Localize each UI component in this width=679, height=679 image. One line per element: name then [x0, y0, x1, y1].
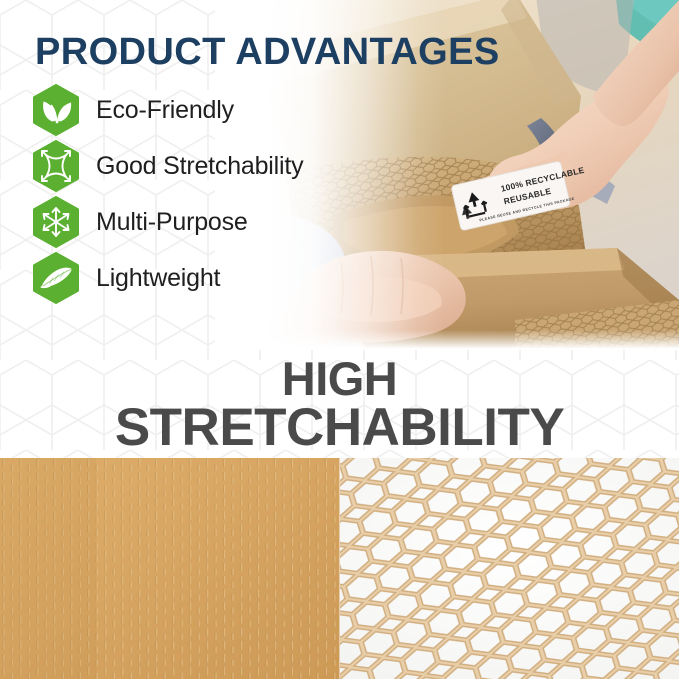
advantage-label: Lightweight [96, 264, 220, 293]
stretch-icon [31, 140, 81, 192]
section-title-line2: STRETCHABILITY [0, 402, 679, 454]
advantage-label: Good Stretchability [96, 152, 303, 181]
stretched-honeycomb-panel [340, 458, 679, 679]
section-title: HIGH STRETCHABILITY [0, 356, 679, 454]
advantage-item-multi-purpose: Multi-Purpose [31, 194, 391, 250]
feather-icon [31, 252, 81, 304]
section-title-line1: HIGH [0, 356, 679, 402]
photo-bottom-white-fade [215, 330, 679, 350]
product-advantages-infographic: 100% RECYCLABLE REUSABLE PLEASE REUSE AN… [0, 0, 679, 679]
unstretched-kraft-panel [0, 458, 340, 679]
multi-arrow-icon [31, 196, 81, 248]
advantage-item-eco-friendly: Eco-Friendly [31, 82, 391, 138]
advantage-label: Eco-Friendly [96, 96, 234, 125]
leaf-icon [31, 84, 81, 136]
advantage-item-lightweight: Lightweight [31, 250, 391, 306]
advantage-item-good-stretchability: Good Stretchability [31, 138, 391, 194]
page-title: PRODUCT ADVANTAGES [35, 31, 500, 74]
comparison-panels [0, 458, 679, 679]
advantages-list: Eco-Friendly Good Stretchab [31, 82, 391, 306]
advantage-label: Multi-Purpose [96, 208, 248, 237]
